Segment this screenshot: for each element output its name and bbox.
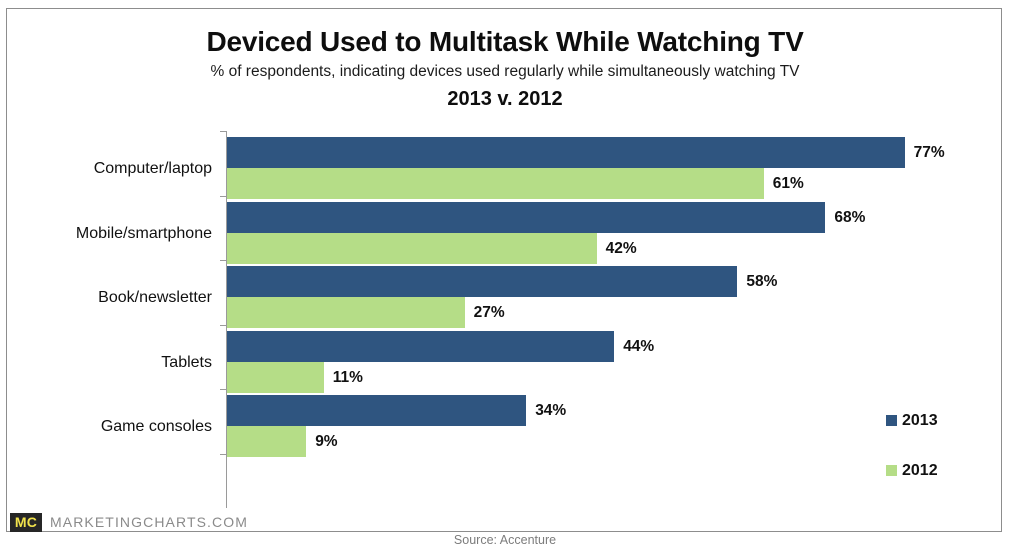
axis-tick [220, 389, 227, 390]
plot-area: Computer/laptop77%61%Mobile/smartphone68… [0, 0, 1010, 555]
bar-2012 [227, 168, 764, 199]
legend-swatch-icon [886, 465, 897, 476]
bar-2013 [227, 331, 614, 362]
bar-value-label: 27% [474, 297, 505, 328]
legend-item-2013[interactable]: 2013 [886, 412, 938, 432]
footer-divider [6, 531, 1002, 532]
category-label: Book/newsletter [0, 289, 212, 307]
legend-item-2012[interactable]: 2012 [886, 462, 938, 482]
bar-2012 [227, 297, 465, 328]
bar-value-label: 9% [315, 426, 337, 457]
axis-tick [220, 131, 227, 132]
axis-tick [220, 454, 227, 455]
bar-2013 [227, 137, 905, 168]
bar-2013 [227, 202, 825, 233]
axis-tick [220, 196, 227, 197]
legend-label: 2012 [902, 462, 938, 480]
source-note: Source: Accenture [0, 533, 1010, 547]
legend-swatch-icon [886, 415, 897, 426]
bar-value-label: 42% [606, 233, 637, 264]
axis-tick [220, 325, 227, 326]
legend-label: 2013 [902, 412, 938, 430]
bar-value-label: 61% [773, 168, 804, 199]
category-label: Tablets [0, 354, 212, 372]
bar-group: Tablets44%11% [0, 331, 1010, 395]
category-label: Mobile/smartphone [0, 225, 212, 243]
chart-figure: Deviced Used to Multitask While Watching… [0, 0, 1010, 555]
bar-value-label: 58% [746, 266, 777, 297]
bar-value-label: 77% [914, 137, 945, 168]
bar-2013 [227, 266, 737, 297]
marketingcharts-logo-mark: MC [10, 513, 42, 532]
bar-group: Mobile/smartphone68%42% [0, 202, 1010, 266]
bar-value-label: 11% [333, 362, 363, 393]
bar-2012 [227, 233, 597, 264]
axis-tick [220, 260, 227, 261]
category-label: Computer/laptop [0, 160, 212, 178]
bar-group: Book/newsletter58%27% [0, 266, 1010, 330]
category-label: Game consoles [0, 418, 212, 436]
bar-2013 [227, 395, 526, 426]
bar-value-label: 44% [623, 331, 654, 362]
bar-group: Game consoles34%9% [0, 395, 1010, 459]
bar-group: Computer/laptop77%61% [0, 137, 1010, 201]
marketingcharts-logo-text: MARKETINGCHARTS.COM [50, 514, 248, 530]
bar-2012 [227, 362, 324, 393]
bar-value-label: 68% [834, 202, 865, 233]
bar-value-label: 34% [535, 395, 566, 426]
bar-2012 [227, 426, 306, 457]
